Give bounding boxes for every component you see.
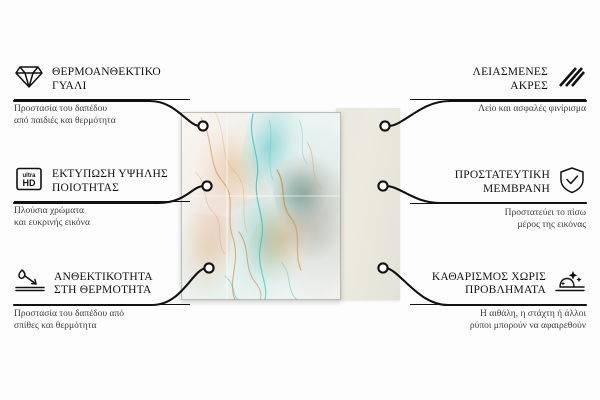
- feature-description: Η αιθάλη, η στάχτη ή άλλοι ρύποι μπορούν…: [410, 309, 586, 332]
- feature-title: ΕΚΤΥΠΩΣΗ ΥΨΗΛΗΣ ΠΟΙΟΤΗΤΑΣ: [52, 168, 168, 195]
- infographic-canvas: ΘΕΡΜΟΑΝΘΕΚΤΙΚΟ ΓΥΑΛΙ Προστασία του δαπέδ…: [0, 0, 600, 400]
- feature-title: ΛΕΙΑΣΜΕΝΕΣ ΑΚΡΕΣ: [473, 66, 548, 93]
- diamond-icon: [14, 64, 44, 95]
- feature-title: ΠΡΟΣΤΑΤΕΥΤΙΚΗ ΜΕΜΒΡΑΝΗ: [455, 169, 550, 196]
- feature-title: ΚΑΘΑΡΙΣΜΟΣ ΧΩΡΙΣ ΠΡΟΒΛΗΜΑΤΑ: [432, 271, 546, 298]
- feature-title: ΘΕΡΜΟΑΝΘΕΚΤΙΚΟ ΓΥΑΛΙ: [52, 66, 161, 93]
- feature-divider: [14, 99, 190, 100]
- feature-description: Προστασία του δαπέδου από παιδιές και θε…: [14, 104, 190, 127]
- feature-description: Λείο και ασφαλές φινίρισμα: [410, 104, 586, 116]
- feature-divider: [410, 99, 586, 100]
- feature-polished-edges[interactable]: ΛΕΙΑΣΜΕΝΕΣ ΑΚΡΕΣ Λείο και ασφαλές φινίρι…: [410, 64, 586, 116]
- product-side-panel: [336, 108, 400, 300]
- feature-title: ΑΝΘΕΚΤΙΚΟΤΗΤΑ ΣΤΗ ΘΕΡΜΟΤΗΤΑ: [54, 271, 153, 298]
- feature-divider: [410, 304, 586, 305]
- feature-description: Προστασία του δαπέδου από σπίθες και θερ…: [14, 309, 190, 332]
- feature-high-quality-print[interactable]: ultra HD ΕΚΤΥΠΩΣΗ ΥΨΗΛΗΣ ΠΟΙΟΤΗΤΑΣ Πλούσ…: [14, 166, 190, 229]
- feature-easy-cleaning[interactable]: ΚΑΘΑΡΙΣΜΟΣ ΧΩΡΙΣ ΠΡΟΒΛΗΜΑΤΑ Η αιθάλη, η …: [410, 268, 586, 332]
- feature-divider: [14, 304, 190, 305]
- ultra-hd-icon: ultra HD: [14, 166, 44, 197]
- sponge-sparkle-icon: [554, 268, 586, 300]
- glass-splashback: [181, 112, 341, 300]
- flame-deflect-icon: [14, 268, 46, 300]
- shield-check-icon: [558, 166, 586, 199]
- svg-text:HD: HD: [23, 178, 36, 188]
- feature-description: Προστατεύει το πίσω μέρος της εικόνας: [410, 208, 586, 231]
- product-image: [181, 112, 400, 300]
- feature-heat-resistant-glass[interactable]: ΘΕΡΜΟΑΝΘΕΚΤΙΚΟ ΓΥΑΛΙ Προστασία του δαπέδ…: [14, 64, 190, 127]
- diagonal-stripes-icon: [556, 64, 586, 95]
- feature-divider: [14, 201, 190, 202]
- feature-divider: [410, 203, 586, 204]
- feature-heat-durability[interactable]: ΑΝΘΕΚΤΙΚΟΤΗΤΑ ΣΤΗ ΘΕΡΜΟΤΗΤΑ Προστασία το…: [14, 268, 190, 332]
- feature-description: Πλούσια χρώματα και ευκρινής εικόνα: [14, 206, 190, 229]
- feature-protective-membrane[interactable]: ΠΡΟΣΤΑΤΕΥΤΙΚΗ ΜΕΜΒΡΑΝΗ Προστατεύει το πί…: [410, 166, 586, 231]
